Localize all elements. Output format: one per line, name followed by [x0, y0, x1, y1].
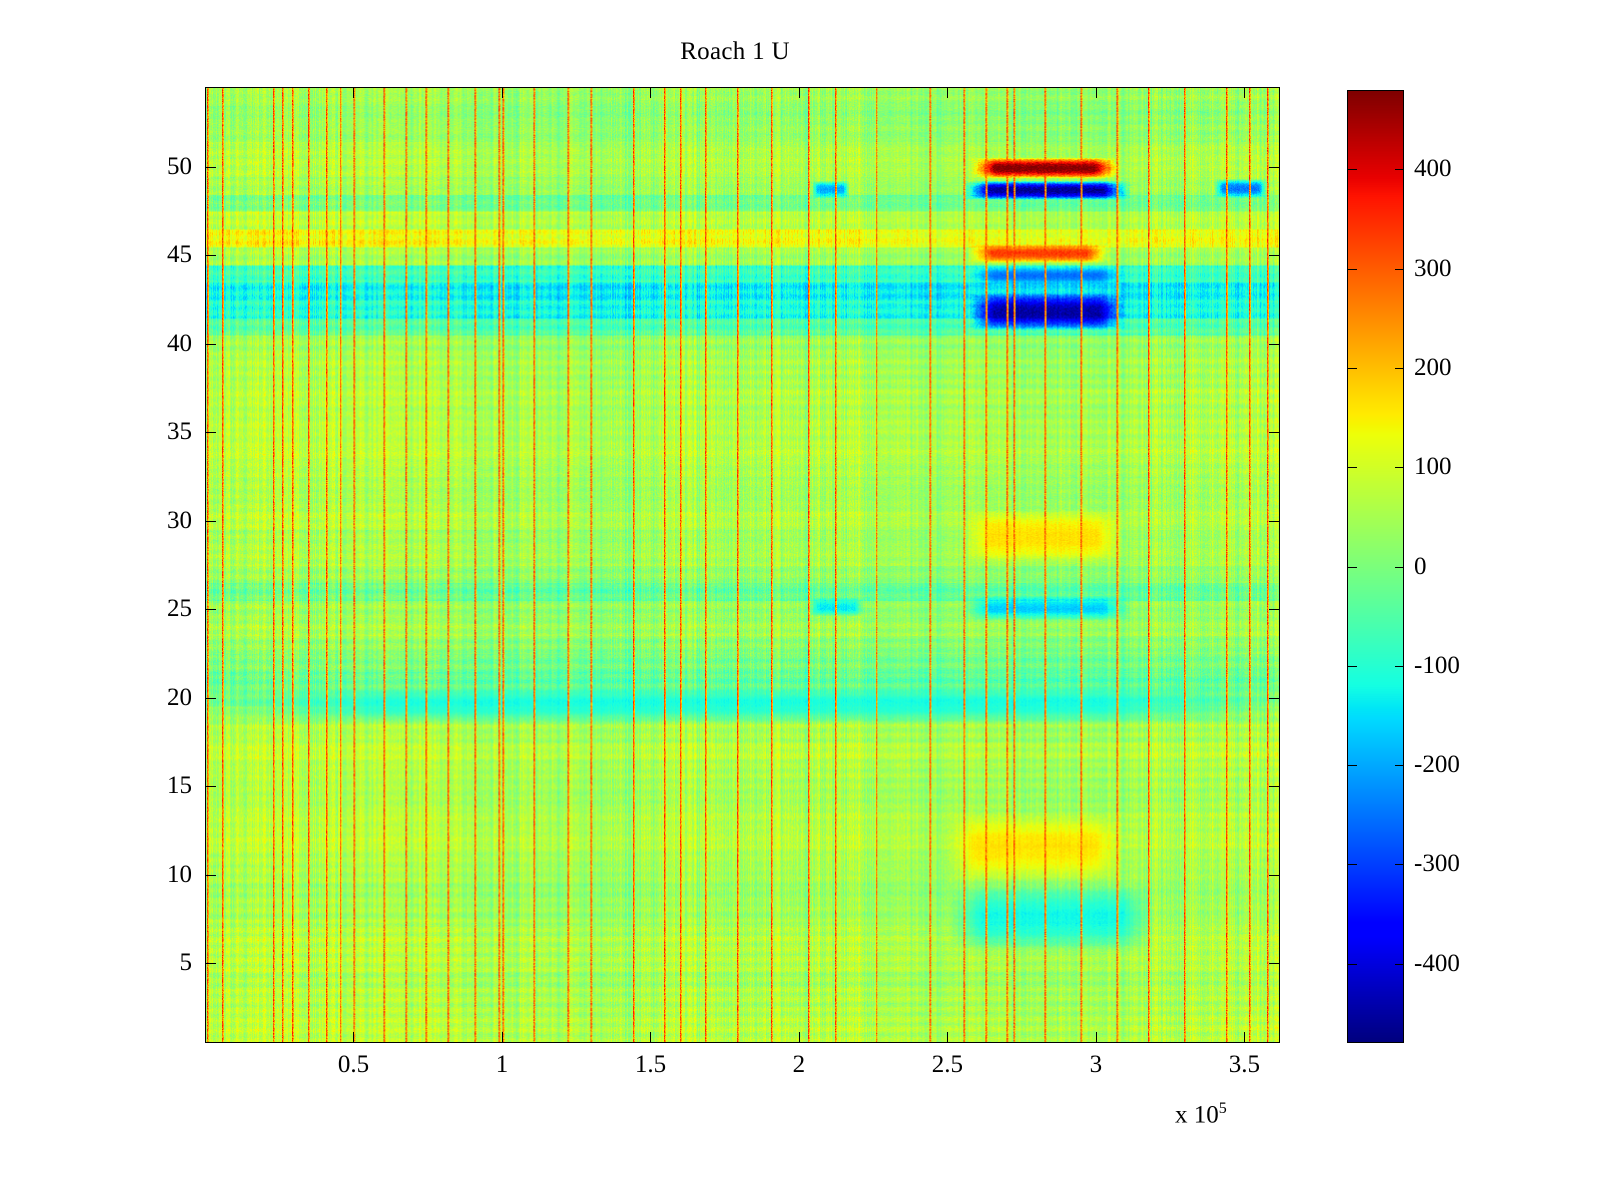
colorbar-tick-mark: [1395, 666, 1404, 667]
colorbar-tick-label: -400: [1414, 951, 1460, 976]
y-tick-mark: [205, 432, 216, 433]
colorbar-tick-label: 200: [1414, 355, 1452, 380]
x-tick-mark: [353, 1032, 354, 1043]
x-exponent-power: 5: [1219, 1100, 1227, 1117]
y-tick-label: 45: [132, 242, 192, 267]
colorbar-tick-mark: [1395, 765, 1404, 766]
x-axis-exponent-label: x 105: [1175, 1100, 1227, 1129]
colorbar-tick-mark: [1395, 864, 1404, 865]
y-tick-mark: [205, 344, 216, 345]
y-tick-mark: [205, 698, 216, 699]
x-tick-mark: [1244, 1032, 1245, 1043]
y-tick-mark: [205, 255, 216, 256]
colorbar-tick-mark: [1348, 269, 1357, 270]
colorbar-tick-mark: [1395, 269, 1404, 270]
colorbar-tick-label: 300: [1414, 256, 1452, 281]
x-tick-label: 2: [759, 1052, 839, 1077]
y-tick-label: 50: [132, 154, 192, 179]
colorbar-tick-mark: [1348, 467, 1357, 468]
x-tick-mark-top: [650, 87, 651, 98]
y-tick-mark-right: [1269, 786, 1280, 787]
heatmap-canvas: [206, 88, 1279, 1042]
y-tick-label: 40: [132, 331, 192, 356]
heatmap-axes[interactable]: [205, 87, 1280, 1043]
x-tick-mark-top: [1244, 87, 1245, 98]
y-tick-mark: [205, 609, 216, 610]
page-title: Roach 1 U: [0, 38, 1470, 66]
y-tick-mark-right: [1269, 698, 1280, 699]
x-tick-mark-top: [502, 87, 503, 98]
colorbar-tick-label: 100: [1414, 454, 1452, 479]
y-tick-mark-right: [1269, 255, 1280, 256]
colorbar-tick-mark: [1348, 567, 1357, 568]
x-tick-label: 1.5: [610, 1052, 690, 1077]
y-tick-label: 10: [132, 862, 192, 887]
colorbar-tick-mark: [1348, 765, 1357, 766]
x-tick-label: 1: [462, 1052, 542, 1077]
x-tick-mark-top: [799, 87, 800, 98]
colorbar-tick-mark: [1395, 964, 1404, 965]
colorbar-tick-label: -100: [1414, 653, 1460, 678]
y-tick-mark-right: [1269, 609, 1280, 610]
colorbar-tick-mark: [1395, 467, 1404, 468]
colorbar-tick-label: 0: [1414, 554, 1427, 579]
x-tick-mark-top: [1096, 87, 1097, 98]
colorbar-tick-mark: [1395, 169, 1404, 170]
heatmap-image: [206, 88, 1279, 1042]
x-tick-mark: [1096, 1032, 1097, 1043]
y-tick-mark: [205, 521, 216, 522]
colorbar-tick-mark: [1395, 368, 1404, 369]
colorbar-tick-mark: [1348, 964, 1357, 965]
y-tick-mark: [205, 167, 216, 168]
x-tick-label: 3: [1056, 1052, 1136, 1077]
y-tick-label: 20: [132, 685, 192, 710]
colorbar-tick-mark: [1348, 169, 1357, 170]
x-tick-label: 0.5: [313, 1052, 393, 1077]
y-tick-mark-right: [1269, 875, 1280, 876]
x-tick-mark: [502, 1032, 503, 1043]
y-tick-mark-right: [1269, 432, 1280, 433]
x-tick-mark-top: [353, 87, 354, 98]
colorbar-tick-label: -200: [1414, 752, 1460, 777]
colorbar-tick-mark: [1348, 864, 1357, 865]
x-tick-mark-top: [947, 87, 948, 98]
x-tick-label: 3.5: [1204, 1052, 1284, 1077]
y-tick-mark-right: [1269, 521, 1280, 522]
matlab-figure-window: Roach 1 U 5101520253035404550 0.511.522.…: [0, 0, 1600, 1200]
x-exponent-mantissa: x 10: [1175, 1101, 1219, 1128]
y-tick-label: 35: [132, 419, 192, 444]
colorbar-tick-mark: [1348, 368, 1357, 369]
x-tick-mark: [947, 1032, 948, 1043]
y-tick-mark: [205, 875, 216, 876]
y-tick-mark: [205, 786, 216, 787]
y-tick-label: 25: [132, 596, 192, 621]
y-tick-mark-right: [1269, 167, 1280, 168]
y-tick-label: 5: [132, 950, 192, 975]
y-tick-label: 30: [132, 508, 192, 533]
y-tick-mark-right: [1269, 963, 1280, 964]
x-tick-mark: [799, 1032, 800, 1043]
colorbar-tick-mark: [1348, 666, 1357, 667]
x-tick-mark: [650, 1032, 651, 1043]
y-tick-label: 15: [132, 773, 192, 798]
colorbar-tick-mark: [1395, 567, 1404, 568]
y-tick-mark: [205, 963, 216, 964]
y-tick-mark-right: [1269, 344, 1280, 345]
x-tick-label: 2.5: [907, 1052, 987, 1077]
colorbar-tick-label: -300: [1414, 851, 1460, 876]
colorbar-tick-label: 400: [1414, 156, 1452, 181]
